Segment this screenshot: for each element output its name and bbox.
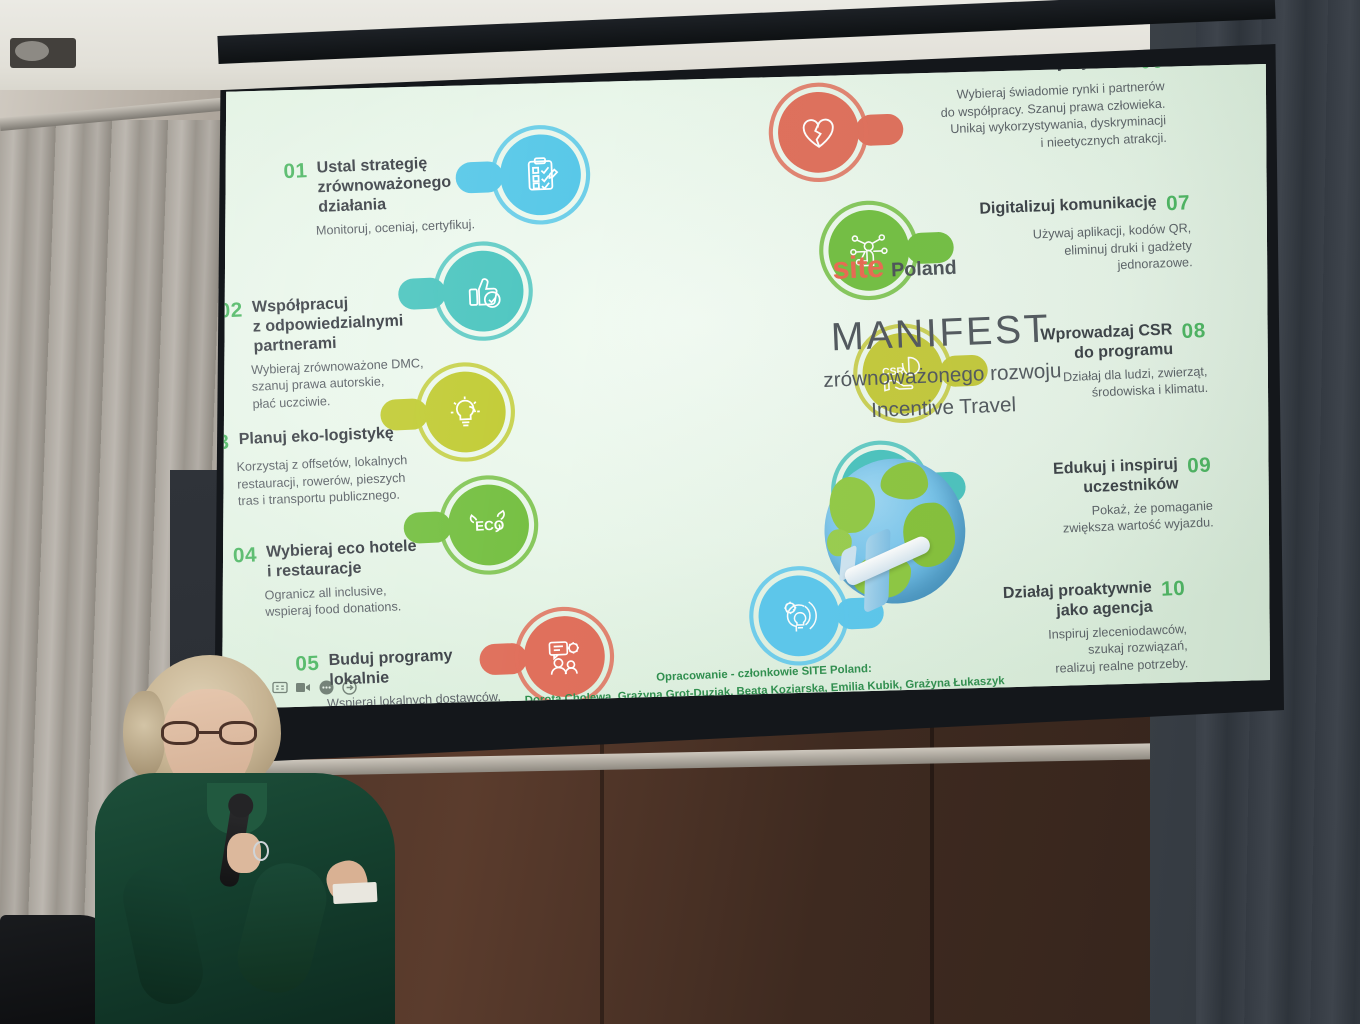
photo-scene: 01 Ustal strategię zrównoważonego działa… xyxy=(0,0,1360,1024)
item-number: 10 xyxy=(1161,577,1186,602)
item-title: Digitalizuj komunikację xyxy=(979,193,1157,220)
item-title: Planuj eko-logistykę xyxy=(238,424,394,450)
presenter-name-badge xyxy=(333,882,378,904)
manifest-item-02: 02 Współpracuj z odpowiedzialnymi partne… xyxy=(222,291,430,414)
icon-badge-02 xyxy=(431,239,534,342)
manifest-item-06: Działaj etycznie 06 Wybieraj świadomie r… xyxy=(832,64,1167,160)
item-description: Korzystaj z offsetów, lokalnych restaura… xyxy=(236,451,425,510)
ceiling-vent xyxy=(10,38,76,68)
presenter-person xyxy=(95,655,395,1024)
item-title: Ustal strategię zrównoważonego działania xyxy=(316,154,452,218)
item-number: 04 xyxy=(232,544,257,569)
presenter-glasses xyxy=(161,721,257,745)
item-title: Wybieraj eco hotele i restauracje xyxy=(266,537,418,582)
item-number: 01 xyxy=(283,160,308,185)
item-description: Pokaż, że pomaganie zwiększa wartość wyj… xyxy=(933,497,1214,543)
icon-badge-06 xyxy=(767,81,870,184)
item-title: Działaj proaktywnie jako agencja xyxy=(1003,579,1153,624)
title-line-1: MANIFEST xyxy=(805,306,1076,362)
icon-badge-04: ECO xyxy=(437,473,540,576)
slide-canvas: 01 Ustal strategię zrównoważonego działa… xyxy=(222,64,1270,709)
manifest-item-03: 03 Planuj eko-logistykę Korzystaj z offs… xyxy=(222,423,425,511)
item-title: Współpracuj z odpowiedzialnymi partneram… xyxy=(252,292,405,357)
manifest-item-04: 04 Wybieraj eco hotele i restauracje Ogr… xyxy=(232,537,437,623)
wood-seam xyxy=(600,700,604,1024)
globe-with-airplane-graphic xyxy=(822,456,969,607)
item-number: 08 xyxy=(1181,319,1206,344)
manifest-item-01: 01 Ustal strategię zrównoważonego działa… xyxy=(283,152,483,240)
projected-slide: 01 Ustal strategię zrównoważonego działa… xyxy=(222,64,1270,709)
title-line-2: zrównoważonego rozwoju xyxy=(807,359,1077,394)
item-number: 09 xyxy=(1187,454,1212,479)
item-number: 02 xyxy=(222,299,243,324)
logo-site-text: site xyxy=(832,250,885,287)
icon-badge-01 xyxy=(489,123,592,226)
site-poland-logo: site Poland xyxy=(832,247,958,287)
slide-title-block: MANIFEST zrównoważonego rozwoju Incentiv… xyxy=(805,306,1078,426)
logo-poland-text: Poland xyxy=(891,257,957,282)
item-number: 07 xyxy=(1166,192,1191,217)
manifest-item-09: Edukuj i inspiruj uczestników 09 Pokaż, … xyxy=(932,454,1214,543)
item-description: Ogranicz all inclusive, wspieraj food do… xyxy=(264,580,437,621)
icon-badge-03 xyxy=(414,360,517,463)
item-description: Monitoruj, oceniaj, certyfikuj. xyxy=(316,215,483,239)
item-title: Edukuj i inspiruj uczestników xyxy=(1053,455,1179,499)
presenter-necklace-pendant xyxy=(253,841,269,861)
